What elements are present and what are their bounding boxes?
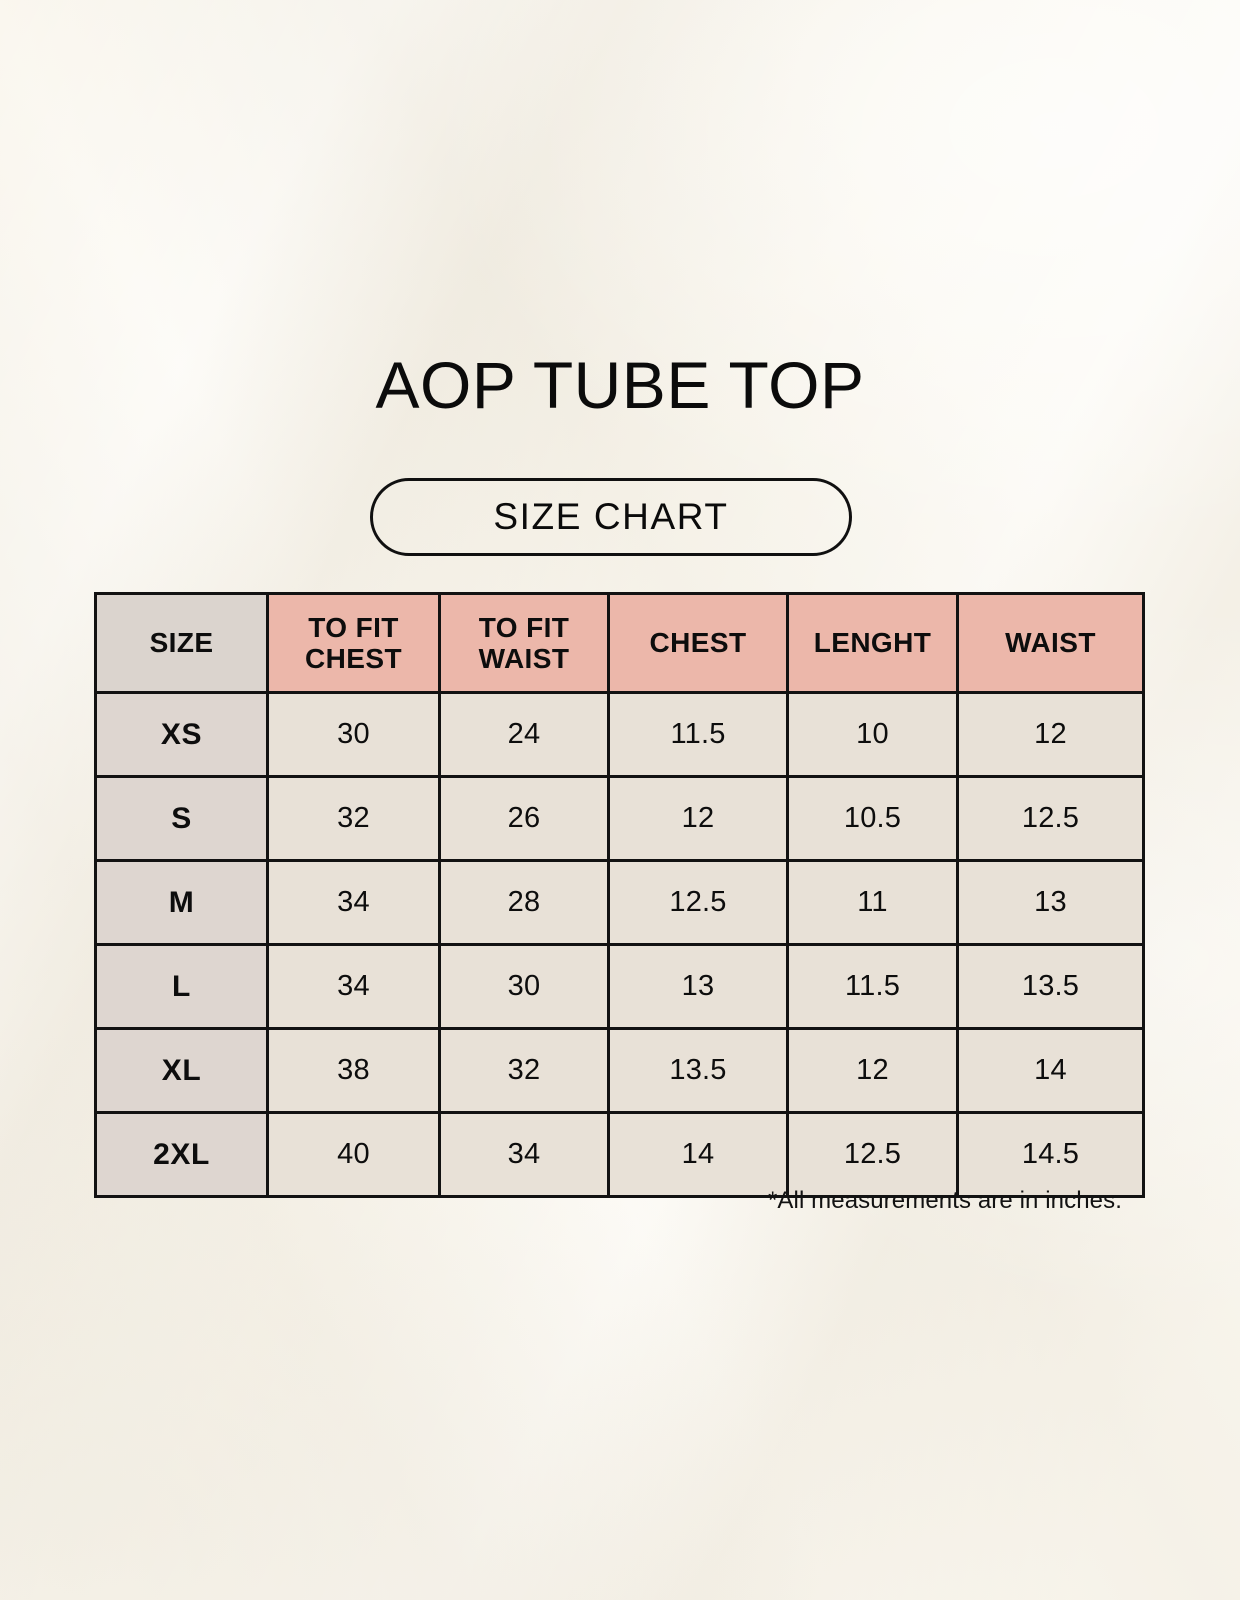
column-header-waist-line1: WAIST xyxy=(1005,627,1096,658)
column-header-lenght-line1: LENGHT xyxy=(814,627,932,658)
size-chart-badge-label: SIZE CHART xyxy=(493,496,728,538)
column-header-chest-line1: CHEST xyxy=(650,627,747,658)
cell-chest: 11.5 xyxy=(609,693,788,777)
size-chart-sheet: AOP TUBE TOP SIZE CHART SIZE TO FIT xyxy=(0,0,1240,1600)
cell-to-fit-waist: 32 xyxy=(440,1029,609,1113)
cell-waist: 14.5 xyxy=(958,1113,1144,1197)
cell-size: XS xyxy=(96,693,268,777)
cell-to-fit-waist: 24 xyxy=(440,693,609,777)
column-header-size-line1: SIZE xyxy=(150,627,214,658)
table-row: 2XL 40 34 14 12.5 14.5 xyxy=(96,1113,1144,1197)
column-header-to-fit-chest-line2: CHEST xyxy=(305,643,402,674)
cell-to-fit-chest: 34 xyxy=(268,861,440,945)
cell-waist: 12 xyxy=(958,693,1144,777)
cell-lenght: 10.5 xyxy=(788,777,958,861)
size-table-container: SIZE TO FIT CHEST TO FIT WAIST CHEST LEN xyxy=(94,592,1142,1198)
cell-chest: 12 xyxy=(609,777,788,861)
cell-lenght: 12 xyxy=(788,1029,958,1113)
table-row: L 34 30 13 11.5 13.5 xyxy=(96,945,1144,1029)
cell-size: S xyxy=(96,777,268,861)
cell-to-fit-chest: 30 xyxy=(268,693,440,777)
cell-waist: 14 xyxy=(958,1029,1144,1113)
size-chart-badge: SIZE CHART xyxy=(370,478,852,556)
cell-to-fit-waist: 28 xyxy=(440,861,609,945)
cell-chest: 14 xyxy=(609,1113,788,1197)
cell-to-fit-waist: 26 xyxy=(440,777,609,861)
measurements-footnote: *All measurements are in inches. xyxy=(0,1187,1122,1215)
table-header-row: SIZE TO FIT CHEST TO FIT WAIST CHEST LEN xyxy=(96,594,1144,693)
cell-lenght: 11 xyxy=(788,861,958,945)
cell-waist: 13 xyxy=(958,861,1144,945)
cell-size: XL xyxy=(96,1029,268,1113)
table-row: M 34 28 12.5 11 13 xyxy=(96,861,1144,945)
cell-lenght: 12.5 xyxy=(788,1113,958,1197)
cell-to-fit-waist: 34 xyxy=(440,1113,609,1197)
cell-lenght: 11.5 xyxy=(788,945,958,1029)
cell-to-fit-chest: 40 xyxy=(268,1113,440,1197)
column-header-chest: CHEST xyxy=(609,594,788,693)
column-header-waist: WAIST xyxy=(958,594,1144,693)
cell-to-fit-waist: 30 xyxy=(440,945,609,1029)
column-header-to-fit-chest: TO FIT CHEST xyxy=(268,594,440,693)
cell-size: L xyxy=(96,945,268,1029)
table-row: XS 30 24 11.5 10 12 xyxy=(96,693,1144,777)
table-header: SIZE TO FIT CHEST TO FIT WAIST CHEST LEN xyxy=(96,594,1144,693)
page-title: AOP TUBE TOP xyxy=(0,352,1240,418)
table-row: S 32 26 12 10.5 12.5 xyxy=(96,777,1144,861)
cell-chest: 13 xyxy=(609,945,788,1029)
cell-to-fit-chest: 34 xyxy=(268,945,440,1029)
column-header-lenght: LENGHT xyxy=(788,594,958,693)
cell-chest: 12.5 xyxy=(609,861,788,945)
table-row: XL 38 32 13.5 12 14 xyxy=(96,1029,1144,1113)
column-header-size: SIZE xyxy=(96,594,268,693)
column-header-to-fit-waist: TO FIT WAIST xyxy=(440,594,609,693)
cell-waist: 13.5 xyxy=(958,945,1144,1029)
cell-to-fit-chest: 38 xyxy=(268,1029,440,1113)
column-header-to-fit-waist-line2: WAIST xyxy=(479,643,570,674)
cell-waist: 12.5 xyxy=(958,777,1144,861)
table-body: XS 30 24 11.5 10 12 S 32 26 12 10.5 12.5… xyxy=(96,693,1144,1197)
cell-to-fit-chest: 32 xyxy=(268,777,440,861)
cell-chest: 13.5 xyxy=(609,1029,788,1113)
cell-size: M xyxy=(96,861,268,945)
size-chart-table: SIZE TO FIT CHEST TO FIT WAIST CHEST LEN xyxy=(94,592,1145,1198)
column-header-to-fit-waist-line1: TO FIT xyxy=(479,612,570,643)
column-header-to-fit-chest-line1: TO FIT xyxy=(308,612,399,643)
cell-lenght: 10 xyxy=(788,693,958,777)
cell-size: 2XL xyxy=(96,1113,268,1197)
